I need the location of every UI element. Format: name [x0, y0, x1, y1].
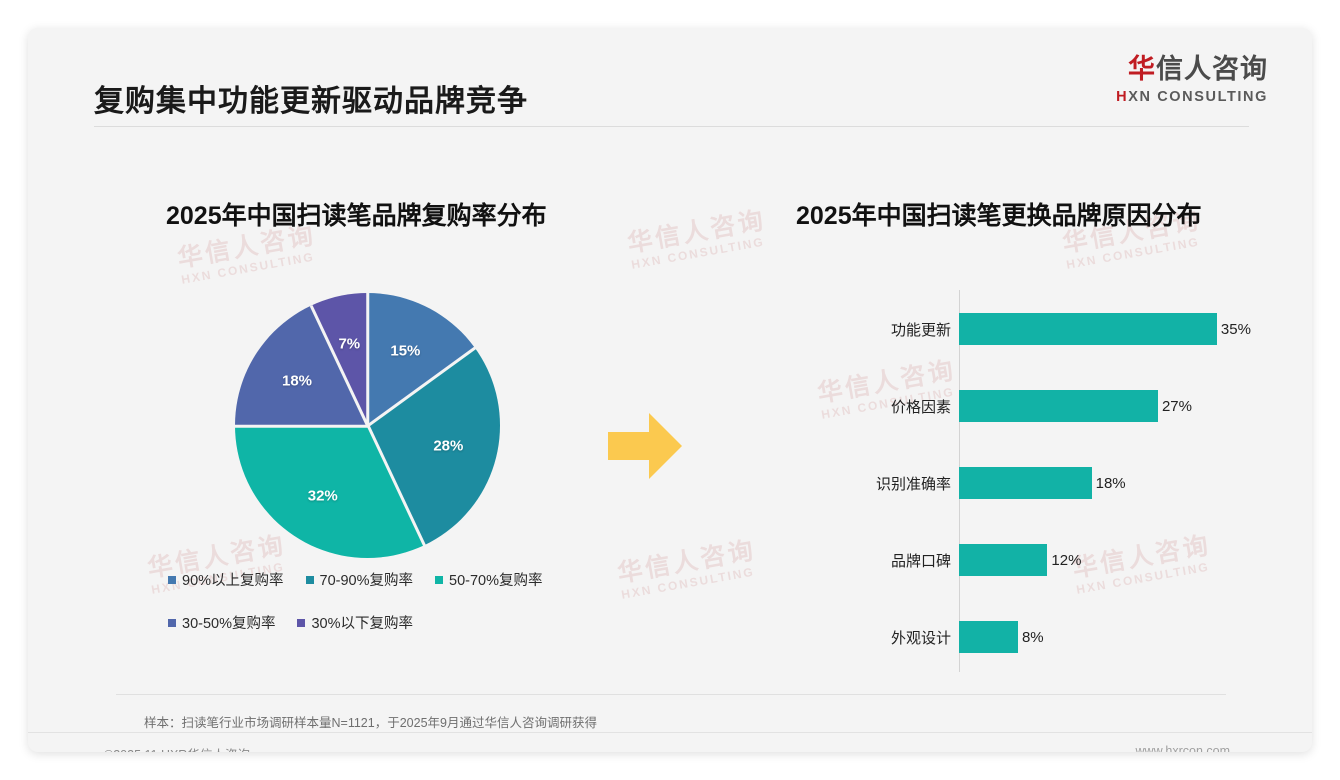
logo-english: HXN CONSULTING	[1116, 90, 1268, 105]
legend-swatch-icon	[168, 619, 176, 627]
watermark-line2: HXN CONSULTING	[630, 234, 770, 272]
legend-item[interactable]: 30%以下复购率	[297, 612, 413, 633]
logo-chinese-rest: 信人咨询	[1156, 54, 1268, 84]
watermark-line1: 华信人咨询	[615, 536, 758, 589]
bar-category-label: 识别准确率	[856, 473, 959, 494]
legend-swatch-icon	[435, 576, 443, 584]
bar-fill	[959, 467, 1092, 499]
bar-chart-title: 2025年中国扫读笔更换品牌原因分布	[796, 196, 1202, 232]
logo-chinese-accent: 华	[1128, 54, 1156, 84]
title-divider	[94, 126, 1249, 127]
bar-track: 18%	[959, 466, 1276, 500]
bar-row[interactable]: 功能更新35%	[856, 312, 1276, 346]
pie-slice-label: 15%	[390, 343, 420, 360]
website-link[interactable]: www.hxrcon.com	[1136, 744, 1230, 752]
pie-slice-label: 18%	[282, 372, 312, 389]
bar-value-label: 35%	[1221, 321, 1251, 338]
logo-chinese: 华信人咨询	[1116, 56, 1268, 83]
legend-row: 90%以上复购率70-90%复购率50-70%复购率	[168, 569, 588, 590]
legend-label: 30%以下复购率	[311, 612, 413, 633]
legend-item[interactable]: 50-70%复购率	[435, 569, 542, 590]
pie-slice-label: 7%	[338, 336, 360, 353]
bar-track: 12%	[959, 543, 1276, 577]
bar-row[interactable]: 识别准确率18%	[856, 466, 1276, 500]
watermark-line1: 华信人咨询	[625, 206, 768, 259]
legend-swatch-icon	[297, 619, 305, 627]
pie-slice-label: 32%	[308, 487, 338, 504]
slide-canvas: 华信人咨询 HXN CONSULTING 华信人咨询 HXN CONSULTIN…	[0, 0, 1340, 780]
slide-card: 华信人咨询 HXN CONSULTING 华信人咨询 HXN CONSULTIN…	[28, 28, 1312, 752]
bar-track: 8%	[959, 620, 1276, 654]
bar-category-label: 价格因素	[856, 396, 959, 417]
bar-value-label: 12%	[1051, 552, 1081, 569]
footnote-divider	[116, 694, 1226, 695]
pie-slice-divider	[366, 293, 369, 426]
bar-row[interactable]: 品牌口碑12%	[856, 543, 1276, 577]
bar-fill	[959, 621, 1018, 653]
legend-swatch-icon	[306, 576, 314, 584]
bar-category-label: 外观设计	[856, 627, 959, 648]
sample-footnote: 样本：扫读笔行业市场调研样本量N=1121，于2025年9月通过华信人咨询调研获…	[144, 712, 597, 731]
legend-label: 30-50%复购率	[182, 612, 275, 633]
brand-logo: 华信人咨询 HXN CONSULTING	[1116, 56, 1268, 105]
watermark-line2: HXN CONSULTING	[620, 564, 760, 602]
bar-value-label: 8%	[1022, 629, 1044, 646]
legend-label: 70-90%复购率	[320, 569, 413, 590]
bar-fill	[959, 390, 1158, 422]
legend-label: 50-70%复购率	[449, 569, 542, 590]
bar-track: 27%	[959, 389, 1276, 423]
footer-divider	[28, 732, 1312, 733]
bar-fill	[959, 313, 1217, 345]
legend-row: 30-50%复购率30%以下复购率	[168, 612, 588, 633]
logo-english-rest: XN CONSULTING	[1128, 89, 1268, 105]
repurchase-pie-chart: 15%28%32%18%7%	[235, 293, 500, 558]
bar-fill	[959, 544, 1047, 576]
replacement-reason-bar-chart: 功能更新35%价格因素27%识别准确率18%品牌口碑12%外观设计8%	[856, 290, 1276, 672]
pie-chart-title: 2025年中国扫读笔品牌复购率分布	[166, 196, 547, 232]
watermark: 华信人咨询 HXN CONSULTING	[615, 536, 760, 602]
legend-swatch-icon	[168, 576, 176, 584]
bar-value-label: 27%	[1162, 398, 1192, 415]
bar-row[interactable]: 价格因素27%	[856, 389, 1276, 423]
page-title: 复购集中功能更新驱动品牌竞争	[94, 76, 528, 120]
bar-track: 35%	[959, 312, 1276, 346]
bar-row[interactable]: 外观设计8%	[856, 620, 1276, 654]
watermark-line2: HXN CONSULTING	[180, 249, 320, 287]
right-arrow-icon	[606, 409, 684, 483]
legend-label: 90%以上复购率	[182, 569, 284, 590]
legend-item[interactable]: 30-50%复购率	[168, 612, 275, 633]
bar-category-label: 品牌口碑	[856, 550, 959, 571]
logo-english-accent: H	[1116, 89, 1128, 105]
pie-legend: 90%以上复购率70-90%复购率50-70%复购率 30-50%复购率30%以…	[168, 569, 588, 655]
bar-value-label: 18%	[1096, 475, 1126, 492]
pie-slice-label: 28%	[433, 438, 463, 455]
watermark: 华信人咨询 HXN CONSULTING	[625, 206, 770, 272]
pie-slice-divider	[235, 424, 368, 427]
legend-item[interactable]: 90%以上复购率	[168, 569, 284, 590]
legend-item[interactable]: 70-90%复购率	[306, 569, 413, 590]
copyright-text: ©2025.11 HXR华信人咨询	[104, 744, 250, 752]
bar-category-label: 功能更新	[856, 319, 959, 340]
watermark-line2: HXN CONSULTING	[1065, 234, 1205, 272]
